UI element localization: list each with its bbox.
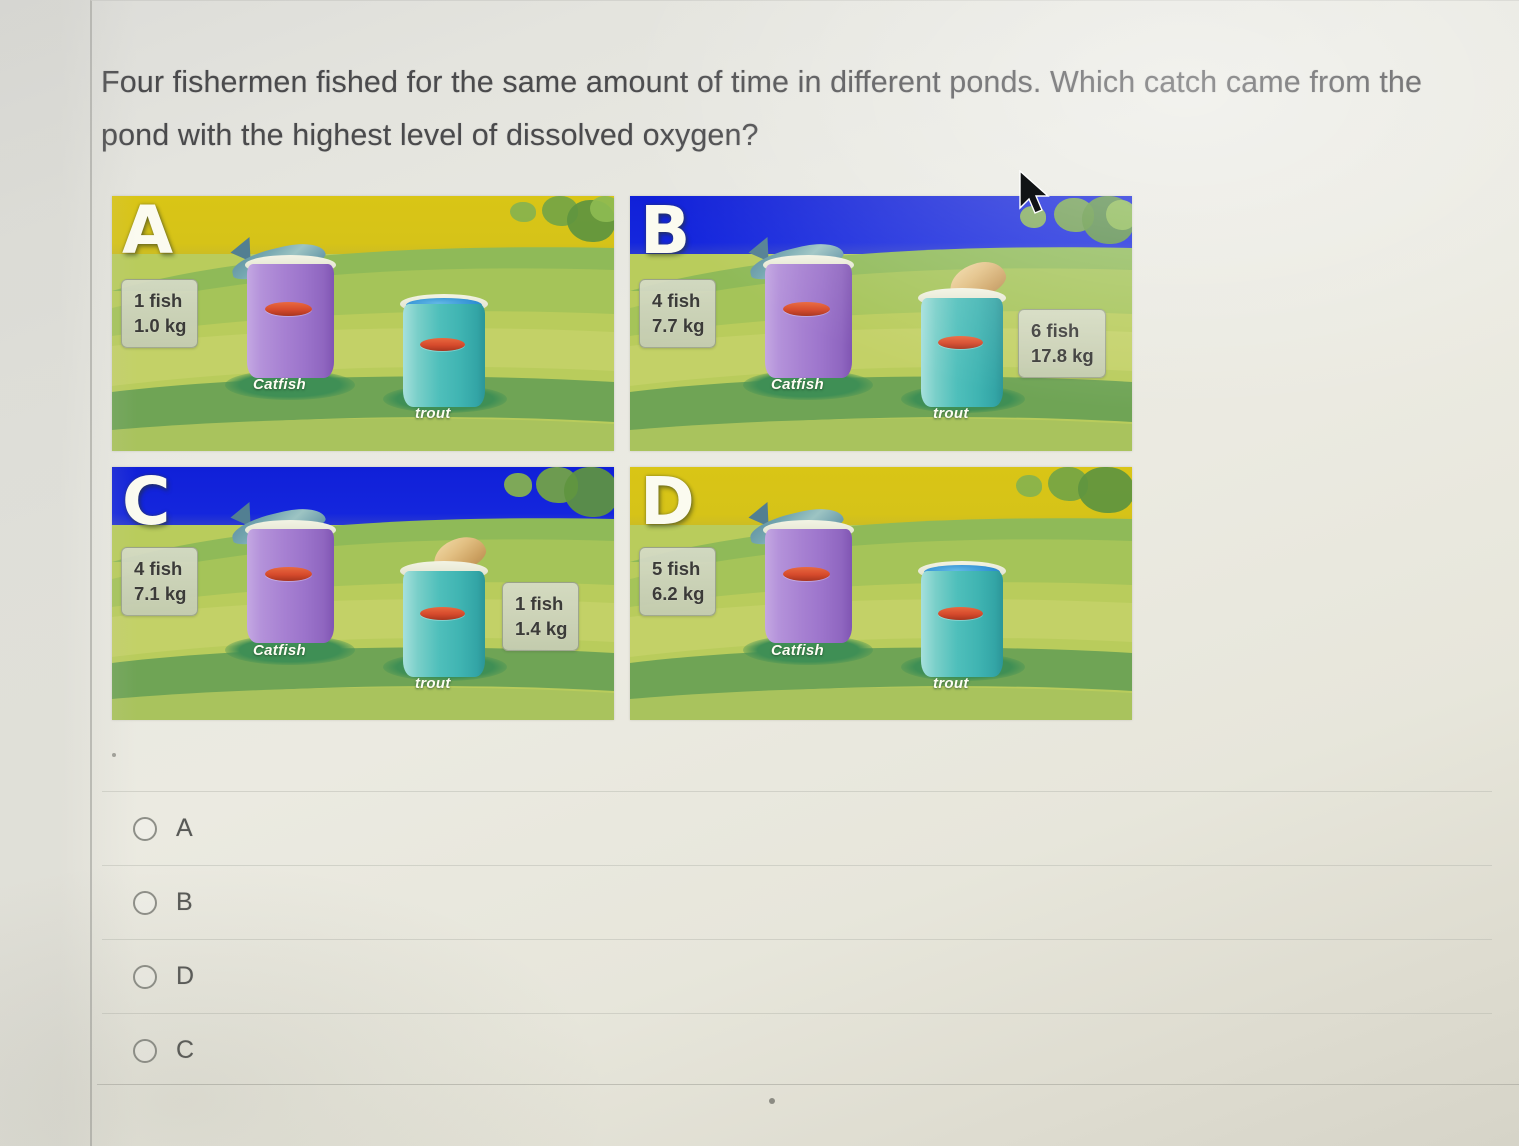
catfish-count: 1 fish xyxy=(134,288,186,313)
radio-button-b[interactable] xyxy=(133,891,157,915)
bucket-label-band xyxy=(420,338,465,351)
catfish-callout-d: 5 fish 6.2 kg xyxy=(639,547,716,616)
catfish-callout-a: 1 fish 1.0 kg xyxy=(121,279,198,348)
option-row-c[interactable]: C xyxy=(102,1013,1492,1087)
bush-icon xyxy=(1106,200,1132,230)
question-card: Four fishermen fished for the same amoun… xyxy=(90,0,1519,1146)
bucket-body xyxy=(921,571,1003,677)
trout-count: 6 fish xyxy=(1031,318,1094,343)
trout-callout-c: 1 fish 1.4 kg xyxy=(502,582,579,651)
panel-c[interactable]: C Catfish trout 4 fish 7.1 kg xyxy=(112,467,614,720)
answer-options-list: A B D C xyxy=(102,791,1492,1087)
bucket-body xyxy=(765,529,852,643)
bucket-name-label: Catfish xyxy=(771,642,824,659)
panel-a[interactable]: A Catfish trout 1 fish xyxy=(112,196,614,451)
bucket-name-label: Catfish xyxy=(253,642,306,659)
trout-count: 1 fish xyxy=(515,591,567,616)
question-text: Four fishermen fished for the same amoun… xyxy=(101,56,1481,162)
catfish-count: 4 fish xyxy=(134,556,186,581)
panel-letter-a: A xyxy=(122,198,173,264)
bush-icon xyxy=(564,467,614,517)
bucket-label-band xyxy=(938,607,983,620)
bucket-name-label: Catfish xyxy=(253,376,306,393)
bucket-label-band xyxy=(783,302,830,316)
bush-icon xyxy=(510,202,536,222)
footer-divider xyxy=(97,1084,1519,1085)
bucket-label-band xyxy=(265,302,312,316)
bucket-body xyxy=(403,571,485,677)
option-row-d[interactable]: D xyxy=(102,939,1492,1013)
catfish-mass: 6.2 kg xyxy=(652,581,704,606)
bush-icon xyxy=(1078,467,1132,513)
radio-button-d[interactable] xyxy=(133,965,157,989)
bucket-name-label: Catfish xyxy=(771,376,824,393)
catfish-count: 4 fish xyxy=(652,288,704,313)
panel-letter-d: D xyxy=(640,469,695,535)
bucket-label-band xyxy=(783,567,830,581)
panel-d[interactable]: D Catfish trout 5 fish 6.2 kg xyxy=(630,467,1132,720)
dust-speck xyxy=(769,1098,775,1104)
radio-button-a[interactable] xyxy=(133,817,157,841)
panel-letter-b: B xyxy=(640,198,690,264)
bucket-body xyxy=(765,264,852,378)
bucket-name-label: trout xyxy=(415,675,451,692)
bucket-body xyxy=(247,264,334,378)
bucket-name-label: trout xyxy=(415,405,451,422)
bucket-name-label: trout xyxy=(933,405,969,422)
catfish-callout-c: 4 fish 7.1 kg xyxy=(121,547,198,616)
radio-button-c[interactable] xyxy=(133,1039,157,1063)
option-label-c: C xyxy=(176,1036,194,1065)
bucket-body xyxy=(921,298,1003,407)
catfish-mass: 7.1 kg xyxy=(134,581,186,606)
mouse-pointer-icon xyxy=(1018,170,1052,218)
panel-b[interactable]: B Catfish trout 4 fish 7.7 kg xyxy=(630,196,1132,451)
trout-mass: 17.8 kg xyxy=(1031,343,1094,368)
catfish-mass: 1.0 kg xyxy=(134,313,186,338)
catfish-mass: 7.7 kg xyxy=(652,313,704,338)
trout-mass: 1.4 kg xyxy=(515,616,567,641)
bucket-label-band xyxy=(265,567,312,581)
answer-image-grid: A Catfish trout 1 fish xyxy=(112,196,1157,721)
bucket-label-band xyxy=(938,336,983,349)
bucket-label-band xyxy=(420,607,465,620)
option-label-d: D xyxy=(176,962,194,991)
bush-icon xyxy=(504,473,532,497)
dust-speck xyxy=(112,753,116,757)
option-row-b[interactable]: B xyxy=(102,865,1492,939)
panel-letter-c: C xyxy=(122,469,170,535)
catfish-callout-b: 4 fish 7.7 kg xyxy=(639,279,716,348)
bucket-body xyxy=(247,529,334,643)
bucket-body xyxy=(403,304,485,407)
option-row-a[interactable]: A xyxy=(102,791,1492,865)
bucket-name-label: trout xyxy=(933,675,969,692)
option-label-b: B xyxy=(176,888,193,917)
catfish-count: 5 fish xyxy=(652,556,704,581)
bush-icon xyxy=(1016,475,1042,497)
option-label-a: A xyxy=(176,814,193,843)
trout-callout-b: 6 fish 17.8 kg xyxy=(1018,309,1106,378)
